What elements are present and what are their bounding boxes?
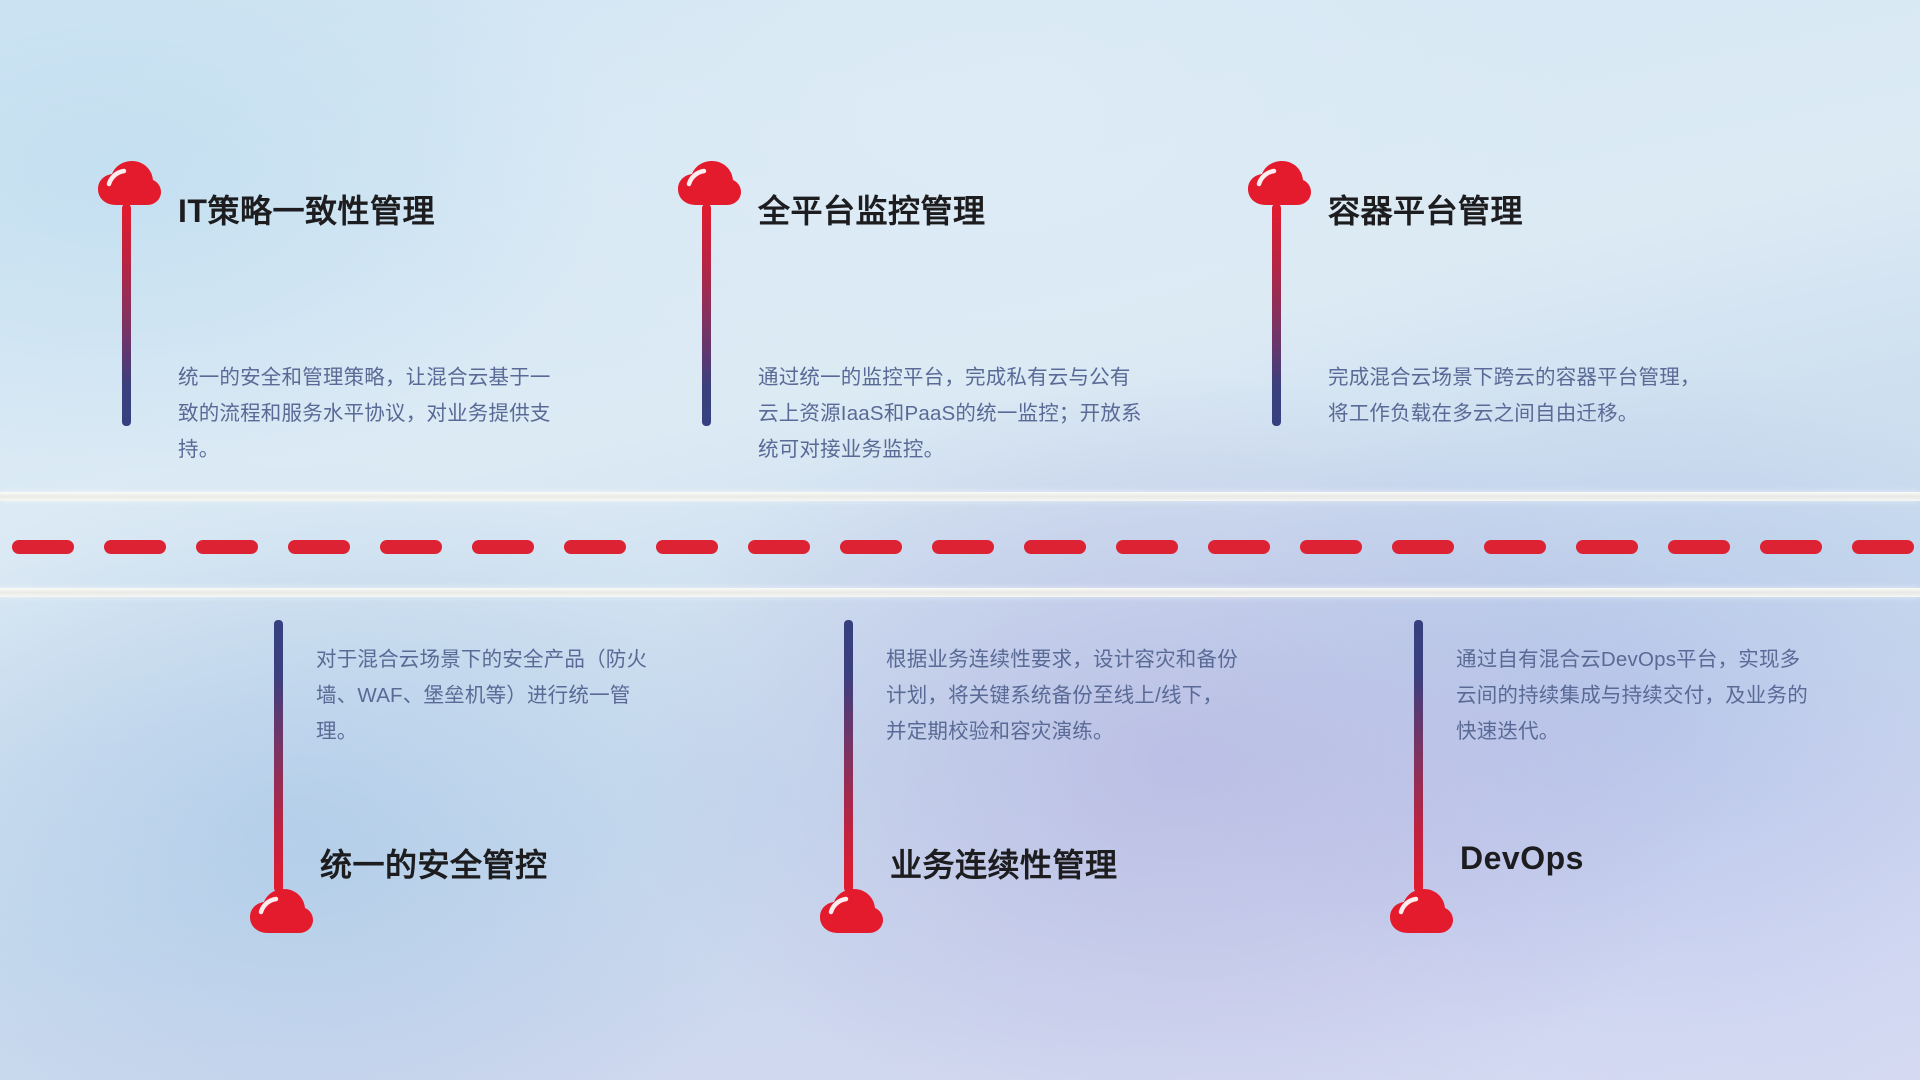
- road-dash: [932, 540, 994, 554]
- cloud-icon: [1246, 160, 1312, 208]
- stem-connector: [122, 204, 131, 426]
- stem-connector: [702, 204, 711, 426]
- road-dash: [1760, 540, 1822, 554]
- card-title: 统一的安全管控: [320, 840, 548, 886]
- road-dash: [748, 540, 810, 554]
- road-dash: [12, 540, 74, 554]
- road-dashed-center-line: [0, 540, 1920, 554]
- road-dash: [380, 540, 442, 554]
- road-dash: [104, 540, 166, 554]
- road-dash: [196, 540, 258, 554]
- card-description: 完成混合云场景下跨云的容器平台管理，将工作负载在多云之间自由迁移。: [1328, 360, 1718, 432]
- road-dash: [1116, 540, 1178, 554]
- road-dash: [840, 540, 902, 554]
- road-dash: [472, 540, 534, 554]
- infographic-canvas: IT策略一致性管理 统一的安全和管理策略，让混合云基于一致的流程和服务水平协议，…: [0, 0, 1920, 1080]
- stem-connector: [274, 620, 283, 892]
- cloud-icon: [676, 160, 742, 208]
- card-description: 通过统一的监控平台，完成私有云与公有云上资源IaaS和PaaS的统一监控；开放系…: [758, 360, 1148, 468]
- card-title: 容器平台管理: [1328, 186, 1523, 232]
- road-dash: [1208, 540, 1270, 554]
- road-dash: [1484, 540, 1546, 554]
- stem-connector: [844, 620, 853, 892]
- road-dash: [1852, 540, 1914, 554]
- road-dash: [1300, 540, 1362, 554]
- stem-connector: [1272, 204, 1281, 426]
- road-dash: [564, 540, 626, 554]
- card-description: 根据业务连续性要求，设计容灾和备份计划，将关键系统备份至线上/线下，并定期校验和…: [886, 642, 1238, 750]
- road-dash: [1576, 540, 1638, 554]
- card-description: 通过自有混合云DevOps平台，实现多云间的持续集成与持续交付，及业务的快速迭代…: [1456, 642, 1808, 750]
- card-description: 对于混合云场景下的安全产品（防火墙、WAF、堡垒机等）进行统一管理。: [316, 642, 668, 750]
- road-dash: [288, 540, 350, 554]
- road-edge-top: [0, 492, 1920, 501]
- road-dash: [1024, 540, 1086, 554]
- road-dash: [1392, 540, 1454, 554]
- stem-connector: [1414, 620, 1423, 892]
- cloud-icon: [96, 160, 162, 208]
- card-title: 全平台监控管理: [758, 186, 986, 232]
- card-title: IT策略一致性管理: [178, 186, 435, 232]
- cloud-icon: [818, 888, 884, 936]
- card-description: 统一的安全和管理策略，让混合云基于一致的流程和服务水平协议，对业务提供支持。: [178, 360, 568, 468]
- cloud-icon: [248, 888, 314, 936]
- road-edge-bottom: [0, 588, 1920, 597]
- card-title: 业务连续性管理: [890, 840, 1118, 886]
- road-dash: [656, 540, 718, 554]
- road-dash: [1668, 540, 1730, 554]
- cloud-icon: [1388, 888, 1454, 936]
- card-title: DevOps: [1460, 840, 1584, 877]
